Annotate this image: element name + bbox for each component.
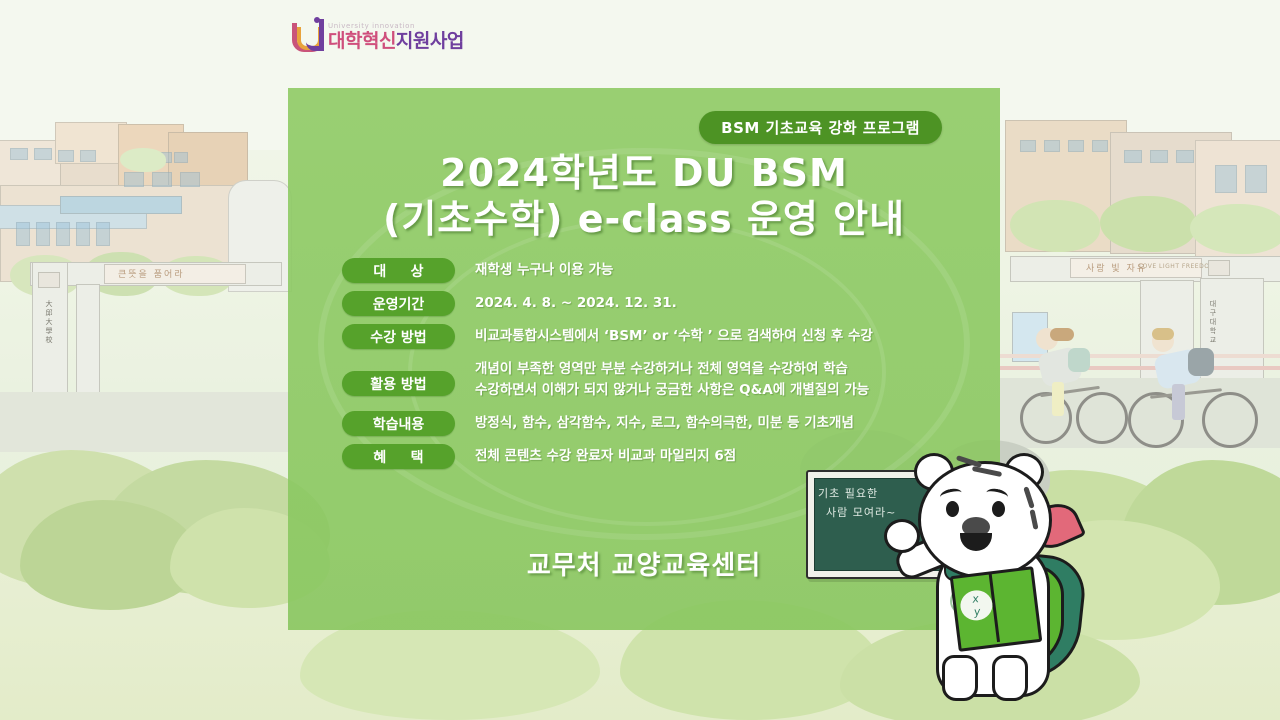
poster-title-line2: (기초수학) e-class 운영 안내 [288, 196, 1000, 242]
info-row-value: 2024. 4. 8. ~ 2024. 12. 31. [475, 291, 677, 314]
info-row-value-line: 재학생 누구나 이용 가능 [475, 260, 613, 281]
window [56, 222, 70, 246]
window [1215, 165, 1237, 193]
road [0, 392, 290, 452]
window [1124, 150, 1142, 163]
logo-korean-part1: 대학혁신 [328, 30, 396, 52]
info-row-value-line: 방정식, 함수, 삼각함수, 지수, 로그, 함수의극한, 미분 등 기초개념 [475, 413, 854, 434]
logo-english-text: University innovation [328, 23, 464, 30]
info-row-label: 대 상 [342, 258, 455, 283]
program-badge: BSM 기초교육 강화 프로그램 [699, 111, 942, 144]
tree [1010, 200, 1100, 252]
mascot-book: x y [950, 566, 1043, 652]
gate-frame-icon [1208, 260, 1230, 276]
window [1020, 140, 1036, 152]
poster-title: 2024학년도 DU BSM (기초수학) e-class 운영 안내 [288, 150, 1000, 243]
tiger-mascot: x y [900, 445, 1120, 710]
bicycle-wheel [1202, 392, 1258, 448]
info-row: 활용 방법 개념이 부족한 영역만 부분 수강하거나 전체 영역을 수강하여 학… [342, 357, 970, 401]
info-row-value-line: 비교과통합시스템에서 ‘BSM’ or ‘수학 ’ 으로 검색하여 신청 후 수… [475, 326, 873, 347]
cyclist-hair [1152, 328, 1174, 340]
window [1092, 140, 1108, 152]
window [180, 172, 200, 187]
gate-right-text-korean: 사랑 빛 자유 [1086, 261, 1147, 274]
book-label: x y [959, 589, 994, 623]
mascot-hand [884, 519, 920, 553]
window [16, 222, 30, 246]
window [152, 172, 172, 187]
cyclist-backpack [1068, 348, 1090, 372]
info-row-value: 재학생 누구나 이용 가능 [475, 258, 613, 281]
university-innovation-logo: University innovation 대학혁신지원사업 [292, 17, 464, 51]
window [80, 150, 96, 162]
logo-text-group: University innovation 대학혁신지원사업 [328, 23, 464, 51]
info-row-value-line: 2024. 4. 8. ~ 2024. 12. 31. [475, 293, 677, 314]
info-row-value-line: 전체 콘텐츠 수강 완료자 비교과 마일리지 6점 [475, 446, 736, 467]
info-row-value: 전체 콘텐츠 수강 완료자 비교과 마일리지 6점 [475, 444, 736, 467]
info-row-value-line: 수강하면서 이해가 되지 않거나 궁금한 사항은 Q&A에 개별질의 가능 [475, 380, 869, 401]
tree [1100, 196, 1196, 252]
logo-mark-icon [292, 17, 322, 51]
window [96, 222, 110, 246]
window [76, 222, 90, 246]
window [1044, 140, 1060, 152]
cyclist-leg [1052, 382, 1064, 416]
gate-pillar-left-label: 大邱大學校 [44, 300, 54, 345]
mascot-leg [942, 655, 978, 701]
gate-left-text: 큰뜻을 품어라 [118, 267, 185, 280]
cyclist-hair [1050, 328, 1074, 341]
window [1245, 165, 1267, 193]
window [174, 152, 188, 163]
info-row: 운영기간 2024. 4. 8. ~ 2024. 12. 31. [342, 291, 970, 316]
bicycle-wheel [1076, 392, 1128, 444]
gate-pillar [76, 284, 100, 406]
window [58, 150, 74, 162]
info-row: 혜 택 전체 콘텐츠 수강 완료자 비교과 마일리지 6점 [342, 444, 970, 469]
gate-pillar-right-label: 대구대학교 [1208, 300, 1218, 345]
info-row-value: 비교과통합시스템에서 ‘BSM’ or ‘수학 ’ 으로 검색하여 신청 후 수… [475, 324, 873, 347]
info-row-value-line: 개념이 부족한 영역만 부분 수강하거나 전체 영역을 수강하여 학습 [475, 359, 869, 380]
building-block [60, 196, 182, 214]
info-row-value: 방정식, 함수, 삼각함수, 지수, 로그, 함수의극한, 미분 등 기초개념 [475, 411, 854, 434]
info-row-label: 수강 방법 [342, 324, 455, 349]
mascot-eye [946, 501, 959, 517]
logo-korean-text: 대학혁신지원사업 [328, 32, 464, 51]
book-label-top: x [972, 592, 980, 606]
tree [120, 148, 166, 172]
mascot-eye [992, 501, 1005, 517]
info-row-value: 개념이 부족한 영역만 부분 수강하거나 전체 영역을 수강하여 학습 수강하면… [475, 357, 869, 401]
window [124, 172, 144, 187]
window [34, 148, 52, 160]
gate-frame-icon [38, 272, 60, 288]
gate-right-text-english: LOVE LIGHT FREEDOM [1139, 263, 1215, 270]
window [36, 222, 50, 246]
cyclist-backpack [1188, 348, 1214, 376]
bicycle-wheel [1020, 392, 1072, 444]
info-row-label: 혜 택 [342, 444, 455, 469]
logo-j-shape [306, 19, 324, 51]
blackboard-line1: 기초 필요한 [818, 487, 878, 500]
mascot-leg [992, 655, 1028, 701]
info-row-label: 활용 방법 [342, 371, 455, 396]
window [10, 148, 28, 160]
window [1150, 150, 1168, 163]
logo-dot [314, 17, 320, 23]
poster-title-line1: 2024학년도 DU BSM [440, 151, 848, 195]
info-row: 학습내용 방정식, 함수, 삼각함수, 지수, 로그, 함수의극한, 미분 등 … [342, 411, 970, 436]
info-row: 대 상 재학생 누구나 이용 가능 [342, 258, 970, 283]
info-row-label: 학습내용 [342, 411, 455, 436]
window [1068, 140, 1084, 152]
cyclist-leg [1172, 384, 1185, 420]
poster-canvas: 큰뜻을 품어라 大邱大學校 사랑 빛 자유 LOVE LIGHT FREEDOM… [0, 0, 1280, 720]
info-row-label: 운영기간 [342, 291, 455, 316]
window [1176, 150, 1194, 163]
info-row: 수강 방법 비교과통합시스템에서 ‘BSM’ or ‘수학 ’ 으로 검색하여 … [342, 324, 970, 349]
book-label-bottom: y [973, 605, 981, 619]
info-rows: 대 상 재학생 누구나 이용 가능 운영기간 2024. 4. 8. ~ 202… [342, 258, 970, 477]
logo-korean-part2: 지원사업 [396, 30, 464, 52]
